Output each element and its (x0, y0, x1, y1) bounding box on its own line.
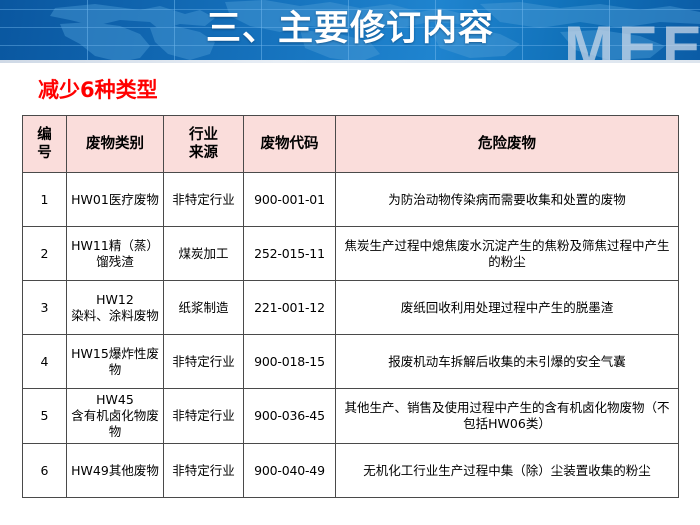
table-body: 1HW01医疗废物非特定行业900-001-01为防治动物传染病而需要收集和处置… (23, 173, 679, 498)
slide-header-banner: MEE 三、主要修订内容 (0, 0, 700, 62)
cell-code: 900-001-01 (244, 173, 336, 227)
table-row: 6HW49其他废物非特定行业900-040-49无机化工行业生产过程中集（除）尘… (23, 444, 679, 498)
cell-description: 其他生产、销售及使用过程中产生的含有机卤化物废物（不包括HW06类） (336, 389, 679, 444)
cell-code: 221-001-12 (244, 281, 336, 335)
table-header-row: 编号 废物类别 行业来源 废物代码 危险废物 (23, 116, 679, 173)
cell-source: 非特定行业 (164, 444, 244, 498)
column-header-code: 废物代码 (244, 116, 336, 173)
column-header-line: 编 (25, 126, 64, 144)
section-heading: 减少6种类型 (38, 74, 158, 104)
cell-description: 焦炭生产过程中熄焦废水沉淀产生的焦粉及筛焦过程中产生的粉尘 (336, 227, 679, 281)
column-header-line: 号 (25, 144, 64, 162)
cell-no: 1 (23, 173, 67, 227)
cell-source: 煤炭加工 (164, 227, 244, 281)
cell-category: HW49其他废物 (67, 444, 164, 498)
cell-no: 4 (23, 335, 67, 389)
cell-no: 5 (23, 389, 67, 444)
cell-description: 废纸回收利用处理过程中产生的脱墨渣 (336, 281, 679, 335)
cell-description: 为防治动物传染病而需要收集和处置的废物 (336, 173, 679, 227)
cell-source: 非特定行业 (164, 389, 244, 444)
cell-category: HW12染料、涂料废物 (67, 281, 164, 335)
column-header-line: 行业 (166, 126, 241, 144)
cell-description: 无机化工行业生产过程中集（除）尘装置收集的粉尘 (336, 444, 679, 498)
cell-line: HW12 (70, 292, 160, 308)
table-row: 3HW12染料、涂料废物纸浆制造221-001-12废纸回收利用处理过程中产生的… (23, 281, 679, 335)
page-title: 三、主要修订内容 (0, 7, 700, 51)
waste-types-table-container: 编号 废物类别 行业来源 废物代码 危险废物 1HW01医疗废物非特定行业900… (22, 115, 678, 498)
cell-category: HW11精（蒸）馏残渣 (67, 227, 164, 281)
column-header-source: 行业来源 (164, 116, 244, 173)
column-header-category: 废物类别 (67, 116, 164, 173)
cell-description: 报废机动车拆解后收集的未引爆的安全气囊 (336, 335, 679, 389)
cell-no: 2 (23, 227, 67, 281)
cell-code: 900-018-15 (244, 335, 336, 389)
table-row: 4HW15爆炸性废物非特定行业900-018-15报废机动车拆解后收集的未引爆的… (23, 335, 679, 389)
table-row: 5HW45含有机卤化物废物非特定行业900-036-45其他生产、销售及使用过程… (23, 389, 679, 444)
column-header-line: 废物类别 (69, 135, 161, 153)
cell-source: 非特定行业 (164, 173, 244, 227)
column-header-no: 编号 (23, 116, 67, 173)
column-header-line: 危险废物 (338, 135, 676, 153)
cell-source: 非特定行业 (164, 335, 244, 389)
cell-category: HW01医疗废物 (67, 173, 164, 227)
cell-line: 含有机卤化物废物 (70, 408, 160, 440)
table-row: 2HW11精（蒸）馏残渣煤炭加工252-015-11焦炭生产过程中熄焦废水沉淀产… (23, 227, 679, 281)
column-header-hazardous-waste: 危险废物 (336, 116, 679, 173)
table-row: 1HW01医疗废物非特定行业900-001-01为防治动物传染病而需要收集和处置… (23, 173, 679, 227)
cell-code: 900-036-45 (244, 389, 336, 444)
cell-line: HW45 (70, 392, 160, 408)
cell-category: HW15爆炸性废物 (67, 335, 164, 389)
cell-category: HW45含有机卤化物废物 (67, 389, 164, 444)
banner-underline (0, 60, 700, 63)
cell-code: 900-040-49 (244, 444, 336, 498)
cell-line: 染料、涂料废物 (70, 308, 160, 324)
column-header-line: 废物代码 (246, 135, 333, 153)
waste-types-table: 编号 废物类别 行业来源 废物代码 危险废物 1HW01医疗废物非特定行业900… (22, 115, 679, 498)
column-header-line: 来源 (166, 144, 241, 162)
cell-code: 252-015-11 (244, 227, 336, 281)
cell-no: 3 (23, 281, 67, 335)
cell-source: 纸浆制造 (164, 281, 244, 335)
cell-no: 6 (23, 444, 67, 498)
